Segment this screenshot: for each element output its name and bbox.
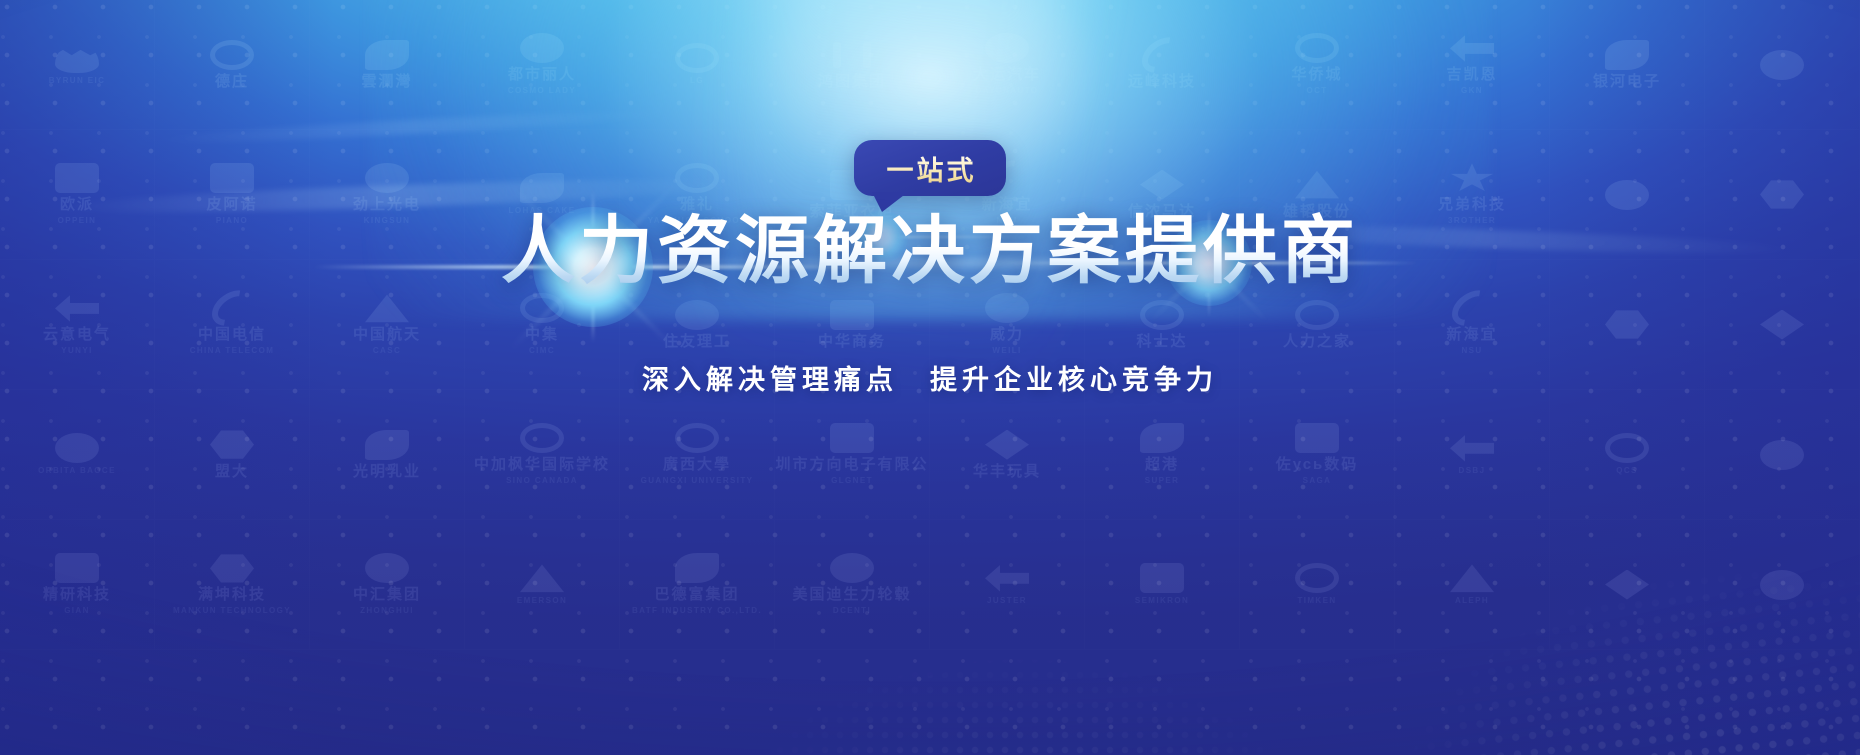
badge-bubble: 一站式 bbox=[854, 140, 1006, 196]
page-subtitle: 深入解决管理痛点 提升企业核心竞争力 bbox=[642, 358, 1218, 397]
hero-content: 一站式 人力资源解决方案提供商 深入解决管理痛点 提升企业核心竞争力 bbox=[0, 0, 1860, 755]
badge-label: 一站式 bbox=[884, 149, 977, 188]
one-stop-badge: 一站式 bbox=[854, 140, 1006, 196]
page-title: 人力资源解决方案提供商 bbox=[501, 212, 1359, 290]
hero-banner: BYRUN EIC德庄雲瀾灣都市丽人COSMO LADYLG鸿图集团大运汽车DA… bbox=[0, 0, 1860, 755]
